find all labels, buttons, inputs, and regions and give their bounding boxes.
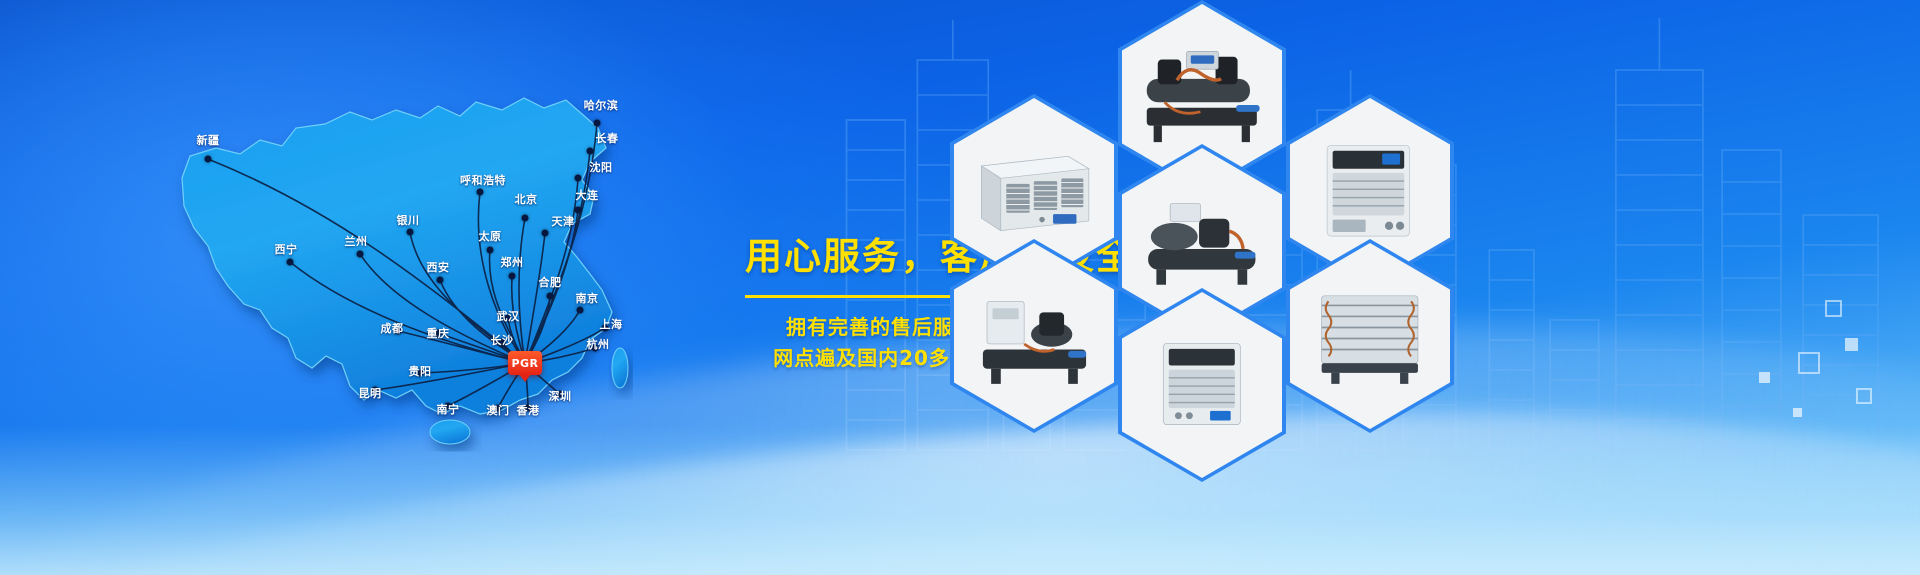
city-label: 杭州 bbox=[587, 336, 610, 352]
city-dot[interactable] bbox=[587, 148, 594, 155]
city-label: 南宁 bbox=[437, 401, 460, 417]
city-dot[interactable] bbox=[522, 215, 529, 222]
decorative-square bbox=[1845, 338, 1858, 351]
city-dot[interactable] bbox=[594, 120, 601, 127]
city-label: 银川 bbox=[397, 212, 420, 228]
city-dot[interactable] bbox=[487, 247, 494, 254]
taiwan-island bbox=[612, 348, 628, 388]
city-label: 长春 bbox=[596, 130, 619, 146]
city-dot[interactable] bbox=[509, 273, 516, 280]
city-label: 深圳 bbox=[549, 388, 572, 404]
city-dot[interactable] bbox=[287, 259, 294, 266]
city-label: 北京 bbox=[515, 191, 538, 207]
city-label: 上海 bbox=[600, 316, 623, 332]
city-dot[interactable] bbox=[575, 175, 582, 182]
city-label: 澳门 bbox=[487, 402, 510, 418]
city-label: 合肥 bbox=[539, 274, 562, 290]
city-label: 重庆 bbox=[427, 325, 450, 341]
city-label: 武汉 bbox=[497, 308, 520, 324]
city-label: 大连 bbox=[576, 187, 599, 203]
decorative-square bbox=[1856, 388, 1872, 404]
hub-label: PGR bbox=[511, 357, 538, 370]
city-dot[interactable] bbox=[547, 293, 554, 300]
city-dot[interactable] bbox=[477, 189, 484, 196]
city-label: 兰州 bbox=[345, 233, 368, 249]
condenser-coil-unit-icon bbox=[1301, 262, 1439, 411]
city-label: 西安 bbox=[427, 259, 450, 275]
city-dot[interactable] bbox=[577, 307, 584, 314]
product-hex-grid bbox=[950, 0, 1510, 575]
city-label: 新疆 bbox=[197, 132, 220, 148]
city-label: 南京 bbox=[576, 290, 599, 306]
city-dot[interactable] bbox=[575, 207, 582, 214]
city-dot[interactable] bbox=[357, 251, 364, 258]
decorative-square bbox=[1793, 408, 1802, 417]
cabinet-water-chiller-icon bbox=[1133, 311, 1271, 460]
china-landmass bbox=[182, 98, 612, 414]
product-hex-condenser-coil-unit[interactable] bbox=[1286, 239, 1454, 433]
city-label: 西宁 bbox=[275, 241, 298, 257]
city-label: 沈阳 bbox=[590, 159, 613, 175]
city-dot[interactable] bbox=[437, 277, 444, 284]
city-label: 天津 bbox=[552, 213, 575, 229]
city-label: 昆明 bbox=[359, 385, 382, 401]
city-label: 长沙 bbox=[491, 332, 514, 348]
city-label: 贵阳 bbox=[409, 363, 432, 379]
city-dot[interactable] bbox=[407, 229, 414, 236]
decorative-square bbox=[1759, 372, 1770, 383]
china-service-map: 新疆哈尔滨长春沈阳呼和浩特北京天津大连银川太原兰州西宁西安郑州合肥南京上海杭州武… bbox=[120, 28, 760, 448]
city-label: 呼和浩特 bbox=[460, 172, 506, 188]
hub-marker-pgr[interactable]: PGR bbox=[508, 351, 542, 375]
city-label: 成都 bbox=[381, 320, 404, 336]
map-svg bbox=[120, 28, 760, 448]
decorative-square bbox=[1798, 352, 1820, 374]
city-label: 哈尔滨 bbox=[584, 97, 619, 113]
city-label: 香港 bbox=[517, 402, 540, 418]
service-network-banner: 新疆哈尔滨长春沈阳呼和浩特北京天津大连银川太原兰州西宁西安郑州合肥南京上海杭州武… bbox=[0, 0, 1920, 575]
product-hex-cabinet-water-chiller[interactable] bbox=[1118, 288, 1286, 482]
city-label: 郑州 bbox=[501, 254, 524, 270]
hainan-island bbox=[430, 420, 470, 444]
city-dot[interactable] bbox=[205, 156, 212, 163]
decorative-square bbox=[1825, 300, 1842, 317]
open-type-chiller-unit-icon bbox=[965, 262, 1103, 411]
product-hex-open-type-chiller-unit[interactable] bbox=[950, 239, 1118, 433]
city-label: 太原 bbox=[479, 228, 502, 244]
city-dot[interactable] bbox=[542, 230, 549, 237]
